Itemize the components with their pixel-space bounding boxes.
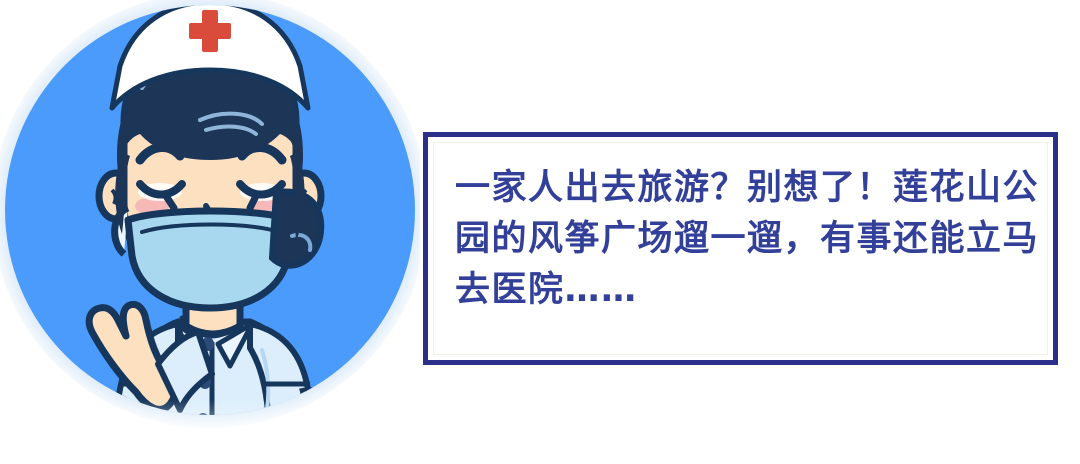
callout-text: 一家人出去旅游？别想了！莲花山公园的风筝广场遛一遛，有事还能立马去医院…… bbox=[455, 163, 1055, 316]
nurse-illustration bbox=[0, 0, 420, 462]
bottom-fade bbox=[0, 322, 420, 462]
screenshot-canvas: 一家人出去旅游？别想了！莲花山公园的风筝广场遛一遛，有事还能立马去医院…… bbox=[0, 0, 1080, 464]
